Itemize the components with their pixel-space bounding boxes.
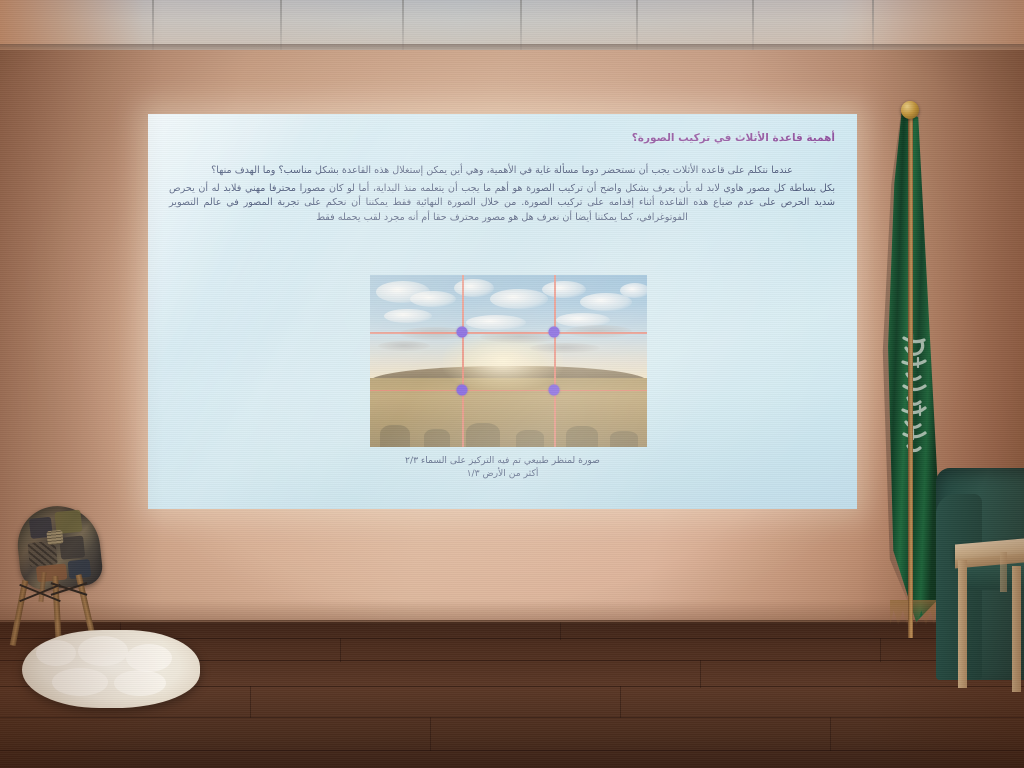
- projector-wash: [370, 275, 647, 447]
- ceiling-tile-seam: [402, 0, 404, 50]
- ceiling-tile-seam: [520, 0, 522, 50]
- floor-wall-joint: [0, 620, 1024, 624]
- caption-line-2: أكثر من الأرض ١/٣: [148, 467, 857, 480]
- projection-screen[interactable]: أهمية قاعدة الأثلاث في تركيب الصورة؟ عند…: [148, 114, 857, 509]
- caption-line-1: صورة لمنظر طبيعي تم فيه التركيز على السم…: [148, 454, 857, 467]
- ceiling-tile-seam: [636, 0, 638, 50]
- slide-title: أهمية قاعدة الأثلاث في تركيب الصورة؟: [415, 132, 835, 146]
- side-table-leg: [1000, 552, 1007, 592]
- ceiling-tile-seam: [280, 0, 282, 50]
- side-table-leg: [1012, 566, 1021, 692]
- flag-finial-icon: [901, 101, 919, 119]
- flag-pole: [908, 118, 913, 638]
- slide-paragraph-1: عندما نتكلم على قاعدة الأثلاث يجب أن نست…: [169, 164, 835, 179]
- sheepskin-rug: [22, 630, 200, 708]
- slide-paragraph-2: بكل بساطة كل مصور هاوي لابد له بأن يعرف …: [169, 182, 835, 226]
- presentation-slide: أهمية قاعدة الأثلاث في تركيب الصورة؟ عند…: [148, 114, 857, 509]
- rule-of-thirds-photo: [370, 275, 647, 447]
- ceiling-tile-seam: [872, 0, 874, 50]
- ceiling-tile-seam: [152, 0, 154, 50]
- flag-shahada-script: [898, 330, 932, 460]
- slide-body: عندما نتكلم على قاعدة الأثلاث يجب أن نست…: [169, 164, 835, 228]
- room-scene: أهمية قاعدة الأثلاث في تركيب الصورة؟ عند…: [0, 0, 1024, 768]
- ceiling-tile-seam: [752, 0, 754, 50]
- slide-caption: صورة لمنظر طبيعي تم فيه التركيز على السم…: [148, 454, 857, 481]
- side-table-leg: [958, 560, 967, 688]
